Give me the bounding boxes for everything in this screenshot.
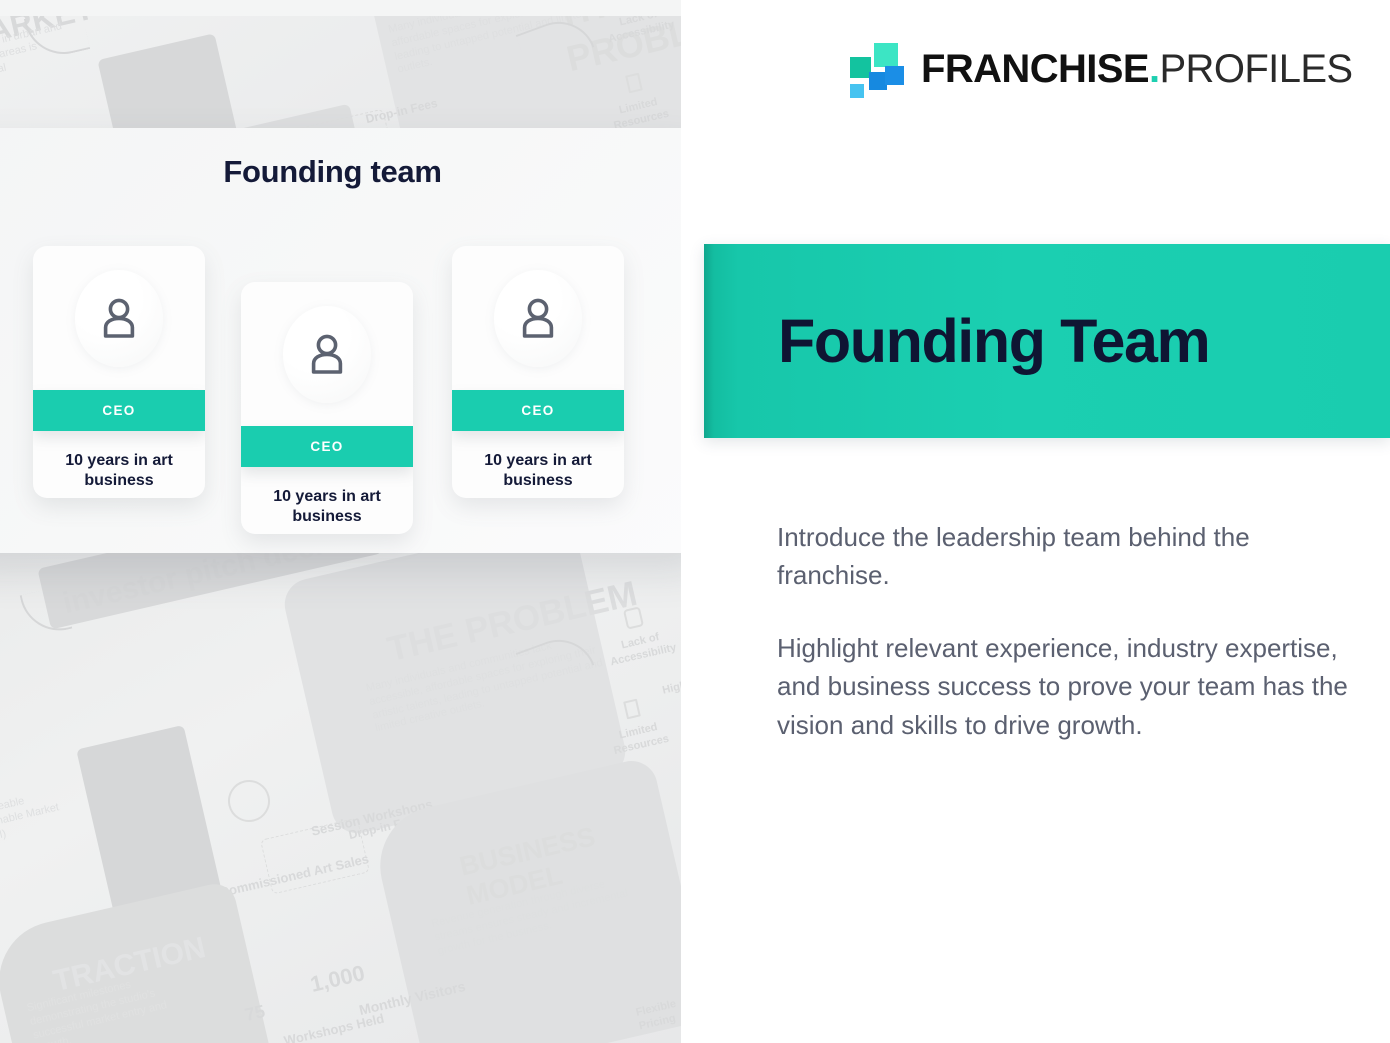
bg-slide-sheet-5: [0, 880, 283, 1043]
team-avatar-area: [33, 246, 205, 390]
bg-icon-dollar: [224, 776, 274, 826]
preview-heading: Founding team: [0, 154, 665, 190]
team-avatar: [75, 270, 163, 367]
team-avatar: [494, 270, 582, 367]
logo-square-sky: [850, 84, 864, 98]
page-title: Founding Team: [778, 311, 1209, 372]
bg-label-1000: 1,000: [308, 959, 368, 998]
founding-team-preview-card: Founding team CEO 10 years in art busine…: [0, 128, 705, 553]
bg-icon-accessibility: [623, 606, 644, 629]
person-icon: [518, 296, 558, 340]
team-role-badge: CEO: [241, 426, 413, 467]
body-paragraph-2: Highlight relevant experience, industry …: [777, 629, 1362, 744]
logo-word-dot: .: [1149, 47, 1160, 91]
team-avatar: [283, 306, 371, 403]
team-role-badge: CEO: [452, 390, 624, 431]
person-icon: [307, 332, 347, 376]
team-member-card[interactable]: CEO 10 years in art business: [452, 246, 624, 498]
logo-word-profiles: PROFILES: [1159, 47, 1352, 91]
bg-icon-resources: [623, 699, 641, 720]
logo-wordmark: FRANCHISE.PROFILES: [921, 49, 1353, 89]
body-copy: Introduce the leadership team behind the…: [777, 518, 1362, 744]
logo-mark-icon: [848, 40, 904, 98]
bg-paragraph-som: Serviceable Obtainable Market (SOM): [0, 783, 83, 848]
body-paragraph-1: Introduce the leadership team behind the…: [777, 518, 1362, 595]
bg-dashed-box-mid: [260, 817, 370, 894]
team-description: 10 years in art business: [241, 487, 413, 528]
team-description: 10 years in art business: [452, 451, 624, 492]
team-avatar-area: [241, 282, 413, 426]
bg-arrow-4: [20, 586, 73, 639]
logo-word-franchise: FRANCHISE: [921, 47, 1149, 91]
logo-square-mint: [874, 43, 898, 67]
team-member-card[interactable]: CEO 10 years in art business: [241, 282, 413, 534]
bg-label-high-costs: High Costs: [661, 671, 681, 698]
bg-label-workshops-held: Workshops Held: [282, 1011, 385, 1043]
bg-label-accessibility: Lack of Accessibility: [598, 626, 681, 672]
person-icon: [99, 296, 139, 340]
team-avatar-area: [452, 246, 624, 390]
logo-square-blue-bright: [885, 66, 904, 85]
team-description: 10 years in art business: [33, 451, 205, 492]
logo-square-teal-dark: [850, 57, 871, 78]
bg-top-fade: [0, 0, 681, 16]
team-member-card[interactable]: CEO 10 years in art business: [33, 246, 205, 498]
brand-logo[interactable]: FRANCHISE.PROFILES: [848, 40, 1353, 98]
content-panel: FRANCHISE.PROFILES Founding Team Introdu…: [681, 0, 1390, 1043]
title-banner: Founding Team: [704, 244, 1390, 438]
team-role-badge: CEO: [33, 390, 205, 431]
